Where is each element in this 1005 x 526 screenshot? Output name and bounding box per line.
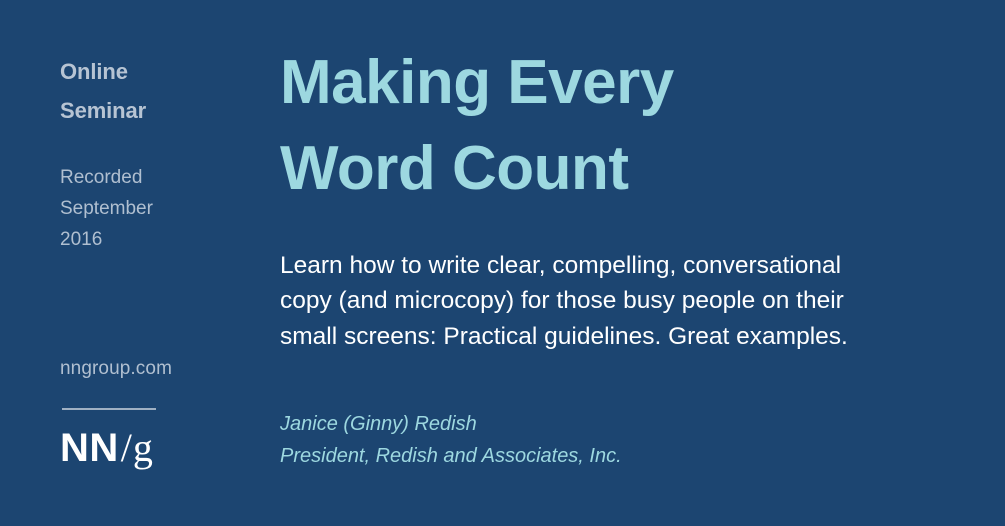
nng-logo-slash: / (121, 428, 132, 468)
presenter-name: Janice (Ginny) Redish (280, 408, 840, 440)
main-content: Making Every Word Count Learn how to wri… (280, 0, 980, 526)
seminar-description-line-3: small screens: Practical guidelines. Gre… (280, 319, 952, 354)
seminar-title-slide: Online Seminar Recorded September 2016 n… (0, 0, 1005, 526)
nng-logo: NN / g (60, 428, 153, 468)
page-title: Making Every Word Count (280, 40, 960, 211)
nng-logo-nn: NN (60, 428, 119, 468)
seminar-description: Learn how to write clear, compelling, co… (280, 248, 952, 354)
page-title-line-2: Word Count (280, 126, 960, 212)
presenter-title: President, Redish and Associates, Inc. (280, 440, 840, 472)
recorded-date: Recorded September 2016 (60, 162, 250, 255)
sidebar: Online Seminar Recorded September 2016 n… (60, 0, 260, 526)
presenter-credits: Janice (Ginny) Redish President, Redish … (280, 408, 840, 473)
recorded-line-1: Recorded (60, 162, 250, 193)
nng-logo-g: g (133, 428, 153, 468)
seminar-description-line-2: copy (and microcopy) for those busy peop… (280, 283, 952, 318)
page-title-line-1: Making Every (280, 40, 960, 126)
seminar-kicker: Online Seminar (60, 52, 250, 130)
site-url[interactable]: nngroup.com (60, 358, 172, 380)
recorded-line-2: September (60, 193, 250, 224)
seminar-kicker-line-2: Seminar (60, 91, 250, 130)
seminar-kicker-line-1: Online (60, 52, 250, 91)
seminar-description-line-1: Learn how to write clear, compelling, co… (280, 248, 952, 283)
logo-divider (62, 408, 156, 410)
recorded-line-3: 2016 (60, 224, 250, 255)
